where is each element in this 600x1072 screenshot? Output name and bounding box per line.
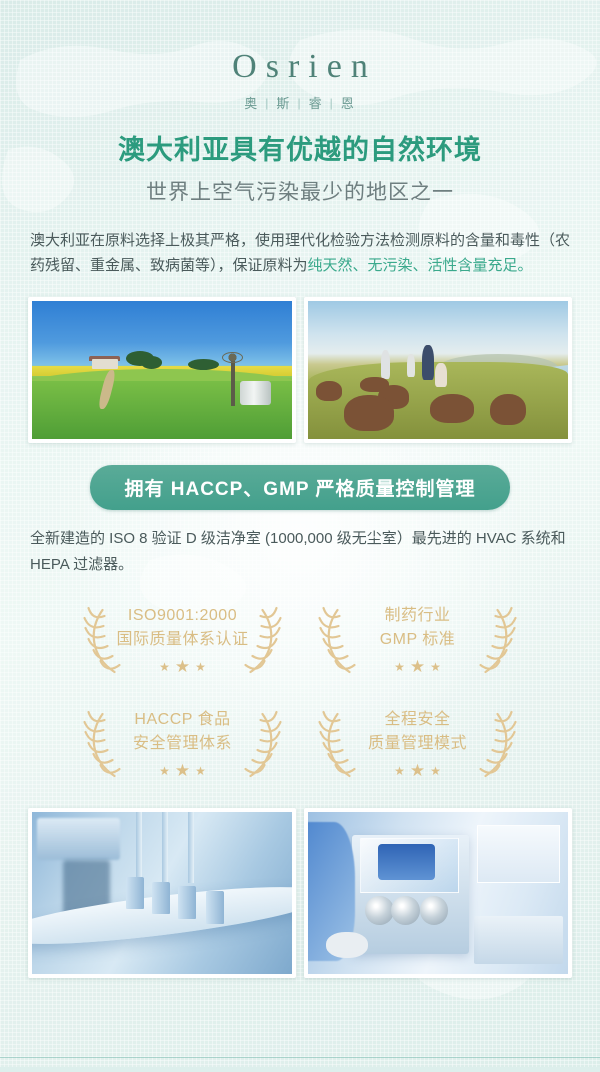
certification-badge-grid: ISO9001:2000 国际质量体系认证 ★ ★ ★ bbox=[65, 592, 535, 792]
nature-paragraph-highlight: 纯天然、无污染、活性含量充足。 bbox=[308, 257, 533, 274]
star-icon: ★ bbox=[175, 658, 190, 675]
certification-badge: 全程安全 质量管理模式 ★ ★ ★ bbox=[300, 696, 535, 792]
brand-separator-3: | bbox=[330, 96, 335, 110]
star-icon: ★ bbox=[394, 765, 405, 777]
certification-badge: HACCP 食品 安全管理体系 ★ ★ ★ bbox=[65, 696, 300, 792]
cleanroom-tablet-press-photo bbox=[304, 808, 572, 978]
badge-stars: ★ ★ ★ bbox=[159, 658, 206, 675]
facility-photo-row bbox=[28, 808, 572, 978]
nature-photo-row bbox=[28, 297, 572, 443]
badge-stars: ★ ★ ★ bbox=[159, 762, 206, 779]
star-icon: ★ bbox=[410, 762, 425, 779]
badge-line-1: ISO9001:2000 bbox=[116, 604, 248, 628]
poster-content: Osrien 奥 | 斯 | 睿 | 恩 澳大利亚具有优越的自然环境 世界上空气… bbox=[0, 0, 600, 1067]
kangaroos-coast-photo bbox=[304, 297, 572, 443]
star-icon: ★ bbox=[195, 661, 206, 673]
quality-banner: 拥有 HACCP、GMP 严格质量控制管理 bbox=[90, 465, 509, 510]
badge-line-2: 质量管理模式 bbox=[368, 732, 467, 756]
badge-line-1: HACCP 食品 bbox=[133, 708, 232, 732]
brand-char-2: 斯 bbox=[276, 93, 291, 112]
vial-production-line-photo bbox=[28, 808, 296, 978]
badge-line-2: 国际质量体系认证 bbox=[116, 628, 248, 652]
nature-paragraph: 澳大利亚在原料选择上极其严格，使用理代化检验方法检测原料的含量和毒性（农药残留、… bbox=[30, 228, 570, 280]
certification-badge: ISO9001:2000 国际质量体系认证 ★ ★ ★ bbox=[65, 592, 300, 688]
brand-char-1: 奥 bbox=[244, 93, 259, 112]
star-icon: ★ bbox=[430, 661, 441, 673]
certification-badge: 制药行业 GMP 标准 ★ ★ ★ bbox=[300, 592, 535, 688]
brand-name-chinese: 奥 | 斯 | 睿 | 恩 bbox=[223, 93, 377, 112]
star-icon: ★ bbox=[430, 765, 441, 777]
star-icon: ★ bbox=[410, 658, 425, 675]
brand-name: Osrien bbox=[223, 50, 377, 84]
brand-char-3: 睿 bbox=[309, 93, 324, 112]
badge-stars: ★ ★ ★ bbox=[394, 762, 441, 779]
badge-line-2: 安全管理体系 bbox=[133, 732, 232, 756]
star-icon: ★ bbox=[195, 765, 206, 777]
star-icon: ★ bbox=[159, 765, 170, 777]
brand-logo: Osrien 奥 | 斯 | 睿 | 恩 bbox=[223, 50, 377, 112]
badge-line-1: 制药行业 bbox=[380, 604, 456, 628]
badge-line-1: 全程安全 bbox=[368, 708, 467, 732]
star-icon: ★ bbox=[175, 762, 190, 779]
brand-separator-1: | bbox=[265, 96, 270, 110]
brand-char-4: 恩 bbox=[341, 93, 356, 112]
badge-stars: ★ ★ ★ bbox=[394, 658, 441, 675]
nature-subheadline: 世界上空气污染最少的地区之一 bbox=[146, 176, 454, 206]
cleanroom-paragraph: 全新建造的 ISO 8 验证 D 级洁净室 (1000,000 级无尘室）最先进… bbox=[30, 526, 570, 578]
star-icon: ★ bbox=[159, 661, 170, 673]
badge-line-2: GMP 标准 bbox=[380, 628, 456, 652]
star-icon: ★ bbox=[394, 661, 405, 673]
nature-headline: 澳大利亚具有优越的自然环境 bbox=[118, 136, 482, 166]
brand-separator-2: | bbox=[297, 96, 302, 110]
australian-farmland-photo bbox=[28, 297, 296, 443]
